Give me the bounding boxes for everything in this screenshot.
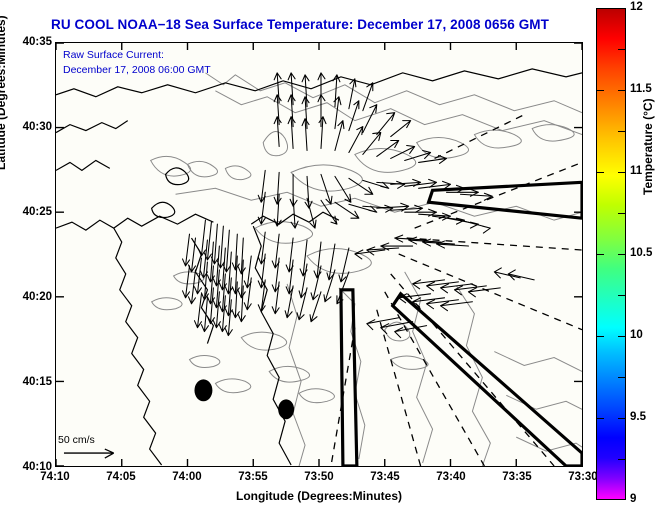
x-tick-label: 73:50 xyxy=(289,471,349,483)
station-marker xyxy=(194,379,212,401)
colorbar-tick-label: 12 xyxy=(630,1,643,13)
colorbar-tick xyxy=(618,336,626,337)
colorbar-tick xyxy=(618,172,626,173)
sector-wedges xyxy=(341,182,582,466)
colorbar-tick xyxy=(596,172,604,173)
colorbar-tick-label: 10.5 xyxy=(630,247,652,259)
x-tick-label: 73:40 xyxy=(421,471,481,483)
colorbar-tick xyxy=(618,213,626,214)
x-tick-label: 73:35 xyxy=(487,471,547,483)
x-tick-label: 74:00 xyxy=(157,471,217,483)
y-tick-label: 40:35 xyxy=(6,36,52,48)
colorbar-tick xyxy=(596,418,604,419)
y-tick-label: 40:15 xyxy=(6,376,52,388)
colorbar-tick xyxy=(618,295,626,296)
page-title: RU COOL NOAA−18 Sea Surface Temperature:… xyxy=(0,17,600,32)
colorbar-tick xyxy=(618,459,626,460)
y-tick-label: 40:30 xyxy=(6,121,52,133)
colorbar-tick xyxy=(596,254,604,255)
colorbar-title: Temperature (°C) xyxy=(641,98,655,195)
colorbar-tick xyxy=(618,254,626,255)
colorbar-tick-label: 9 xyxy=(630,493,636,505)
colorbar-tick xyxy=(618,49,626,50)
scale-key-label: 50 cm/s xyxy=(58,434,95,446)
station-marker xyxy=(278,399,294,419)
colorbar-tick xyxy=(618,90,626,91)
y-axis-label: Latitude (Degrees:Minutes) xyxy=(0,15,8,170)
colorbar-tick xyxy=(596,90,604,91)
contour-lines xyxy=(151,73,582,466)
colorbar-tick-label: 9.5 xyxy=(630,411,646,423)
map-graphics xyxy=(56,43,582,466)
map-plot-area: Raw Surface Current: December 17, 2008 0… xyxy=(55,42,583,467)
x-axis-label: Longitude (Degrees:Minutes) xyxy=(55,489,583,503)
colorbar-tick xyxy=(618,499,626,500)
y-tick-label: 40:20 xyxy=(6,291,52,303)
colorbar-tick xyxy=(596,499,604,500)
colorbar-tick xyxy=(596,336,604,337)
station-markers xyxy=(194,379,294,419)
scale-reference-arrow xyxy=(64,449,114,458)
colorbar-tick-label: 10 xyxy=(630,329,643,341)
colorbar-tick xyxy=(618,377,626,378)
colorbar-tick xyxy=(618,131,626,132)
x-tick-label: 74:10 xyxy=(25,471,85,483)
x-axis: 74:10 74:05 74:00 73:55 73:50 73:45 73:4… xyxy=(0,471,660,491)
x-tick-label: 73:55 xyxy=(223,471,283,483)
colorbar-tick xyxy=(618,418,626,419)
x-tick-label: 73:45 xyxy=(355,471,415,483)
y-tick-label: 40:25 xyxy=(6,206,52,218)
colorbar-tick xyxy=(596,8,604,9)
x-tick-label: 74:05 xyxy=(91,471,151,483)
colorbar-tick-label: 11.5 xyxy=(630,83,652,95)
current-vector-field xyxy=(183,73,535,338)
colorbar-tick xyxy=(618,8,626,9)
